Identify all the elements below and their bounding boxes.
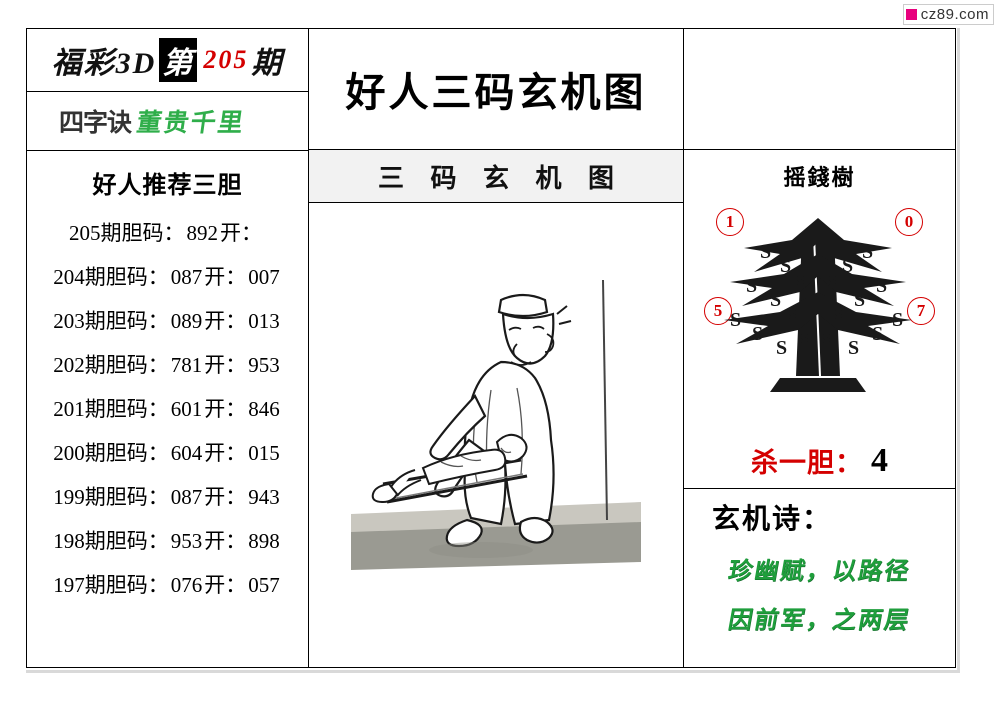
poem-title: 玄机诗： [712,497,832,537]
row-code: 604 [171,441,203,466]
banner-prefix: 福彩3D [52,38,157,82]
row-issue: 201期胆码： [53,393,169,423]
list-item: 200期胆码： 604 开： 015 [27,430,308,474]
row-issue: 202期胆码： [53,349,169,379]
four-char-handwriting: 董贵千里 [134,103,247,139]
row-code: 953 [171,529,203,554]
row-issue: 203期胆码： [53,305,169,335]
poster-frame: 福彩3D 第 205 期 四字诀 董贵千里 好人推荐三胆 205期胆码： 892… [26,28,956,668]
svg-text:S: S [752,323,763,345]
svg-text:S: S [730,309,741,331]
svg-text:S: S [842,255,853,277]
subtitle-text: 三 码 玄 机 图 [368,158,624,195]
money-tree-icon: S S S S S S S S S S S S S S S [684,196,952,416]
watermark-text: cz89.com [921,6,989,23]
poem-line-1: 珍幽赋，以路径 [725,551,913,586]
money-tree-title: 摇錢樹 [783,160,855,192]
lottery-banner-text: 福彩3D 第 205 期 [52,38,284,82]
row-open: 943 [248,485,280,510]
recommend-title: 好人推荐三胆 [27,151,308,210]
list-item: 203期胆码： 089 开： 013 [27,298,308,342]
row-open-label: 开： [204,349,246,379]
row-open: 015 [248,441,280,466]
row-issue: 199期胆码： [53,481,169,511]
row-code: 601 [171,397,203,422]
poem-line-2: 因前军，之两层 [725,600,913,635]
lottery-banner: 福彩3D 第 205 期 [27,29,308,92]
row-open: 953 [248,353,280,378]
page-title: 好人三码玄机图 [346,60,647,118]
banner-issue-box: 第 [159,38,197,82]
subtitle-bar: 三 码 玄 机 图 [309,150,683,203]
row-code: 089 [171,309,203,334]
list-item: 202期胆码： 781 开： 953 [27,342,308,386]
left-column: 福彩3D 第 205 期 四字诀 董贵千里 好人推荐三胆 205期胆码： 892… [27,29,309,667]
svg-text:S: S [746,275,757,297]
svg-text:S: S [788,305,799,327]
row-open-label: 开： [204,437,246,467]
row-open-label: 开： [204,525,246,555]
money-tree-panel: 摇錢樹 1 0 5 7 [684,150,955,489]
row-open-label: 开： [220,217,262,247]
row-open-label: 开： [204,305,246,335]
row-open: 898 [248,529,280,554]
row-code: 076 [171,573,203,598]
banner-issue-number: 205 [203,45,248,75]
kill-one-row: 杀一胆： 4 [751,441,888,480]
row-issue: 204期胆码： [53,261,169,291]
list-item: 198期胆码： 953 开： 898 [27,518,308,562]
row-open-label: 开： [204,569,246,599]
row-code: 781 [171,353,203,378]
four-char-banner: 四字诀 董贵千里 [27,92,308,151]
row-code: 087 [171,485,203,510]
svg-text:S: S [828,271,839,293]
kill-one-label: 杀一胆： [751,441,863,480]
money-tree-area: 1 0 5 7 [684,192,955,441]
list-item: 197期胆码： 076 开： 057 [27,562,308,606]
row-issue: 205期胆码： [69,217,185,247]
history-list: 205期胆码： 892 开： 204期胆码： 087 开： 007 203期胆码… [27,210,308,667]
list-item: 201期胆码： 601 开： 846 [27,386,308,430]
list-item: 204期胆码： 087 开： 007 [27,254,308,298]
row-open: 007 [248,265,280,290]
kill-one-value: 4 [871,442,888,480]
watermark: cz89.com [903,4,994,25]
cartoon-illustration [351,270,641,600]
middle-column: 好人三码玄机图 三 码 玄 机 图 [309,29,684,667]
svg-text:S: S [776,337,787,359]
svg-text:S: S [854,289,865,311]
row-open: 057 [248,573,280,598]
cartoon-illustration-svg [351,270,641,600]
svg-text:S: S [800,329,811,351]
row-issue: 197期胆码： [53,569,169,599]
banner-suffix: 期 [251,38,283,82]
svg-text:S: S [876,275,887,297]
svg-text:S: S [822,329,833,351]
svg-text:S: S [770,289,781,311]
svg-text:S: S [848,337,859,359]
watermark-square-icon [906,9,917,20]
row-open: 013 [248,309,280,334]
row-issue: 198期胆码： [53,525,169,555]
row-open-label: 开： [204,393,246,423]
svg-text:S: S [780,255,791,277]
poem-panel: 玄机诗： 珍幽赋，以路径 因前军，之两层 [684,489,955,667]
svg-text:S: S [834,305,845,327]
right-column: 摇錢樹 1 0 5 7 [684,29,955,667]
row-open: 846 [248,397,280,422]
main-title-bar: 好人三码玄机图 [309,29,683,150]
right-top-spacer [684,29,955,150]
svg-text:S: S [796,271,807,293]
svg-text:S: S [892,309,903,331]
svg-text:S: S [872,323,883,345]
svg-text:S: S [862,241,873,263]
row-open-label: 开： [204,481,246,511]
list-item: 199期胆码： 087 开： 943 [27,474,308,518]
four-char-label: 四字诀 [59,103,131,139]
list-item: 205期胆码： 892 开： [27,210,308,254]
artwork-panel [309,203,683,667]
row-open-label: 开： [204,261,246,291]
row-code: 087 [171,265,203,290]
row-code: 892 [187,221,219,246]
row-issue: 200期胆码： [53,437,169,467]
svg-text:S: S [760,241,771,263]
